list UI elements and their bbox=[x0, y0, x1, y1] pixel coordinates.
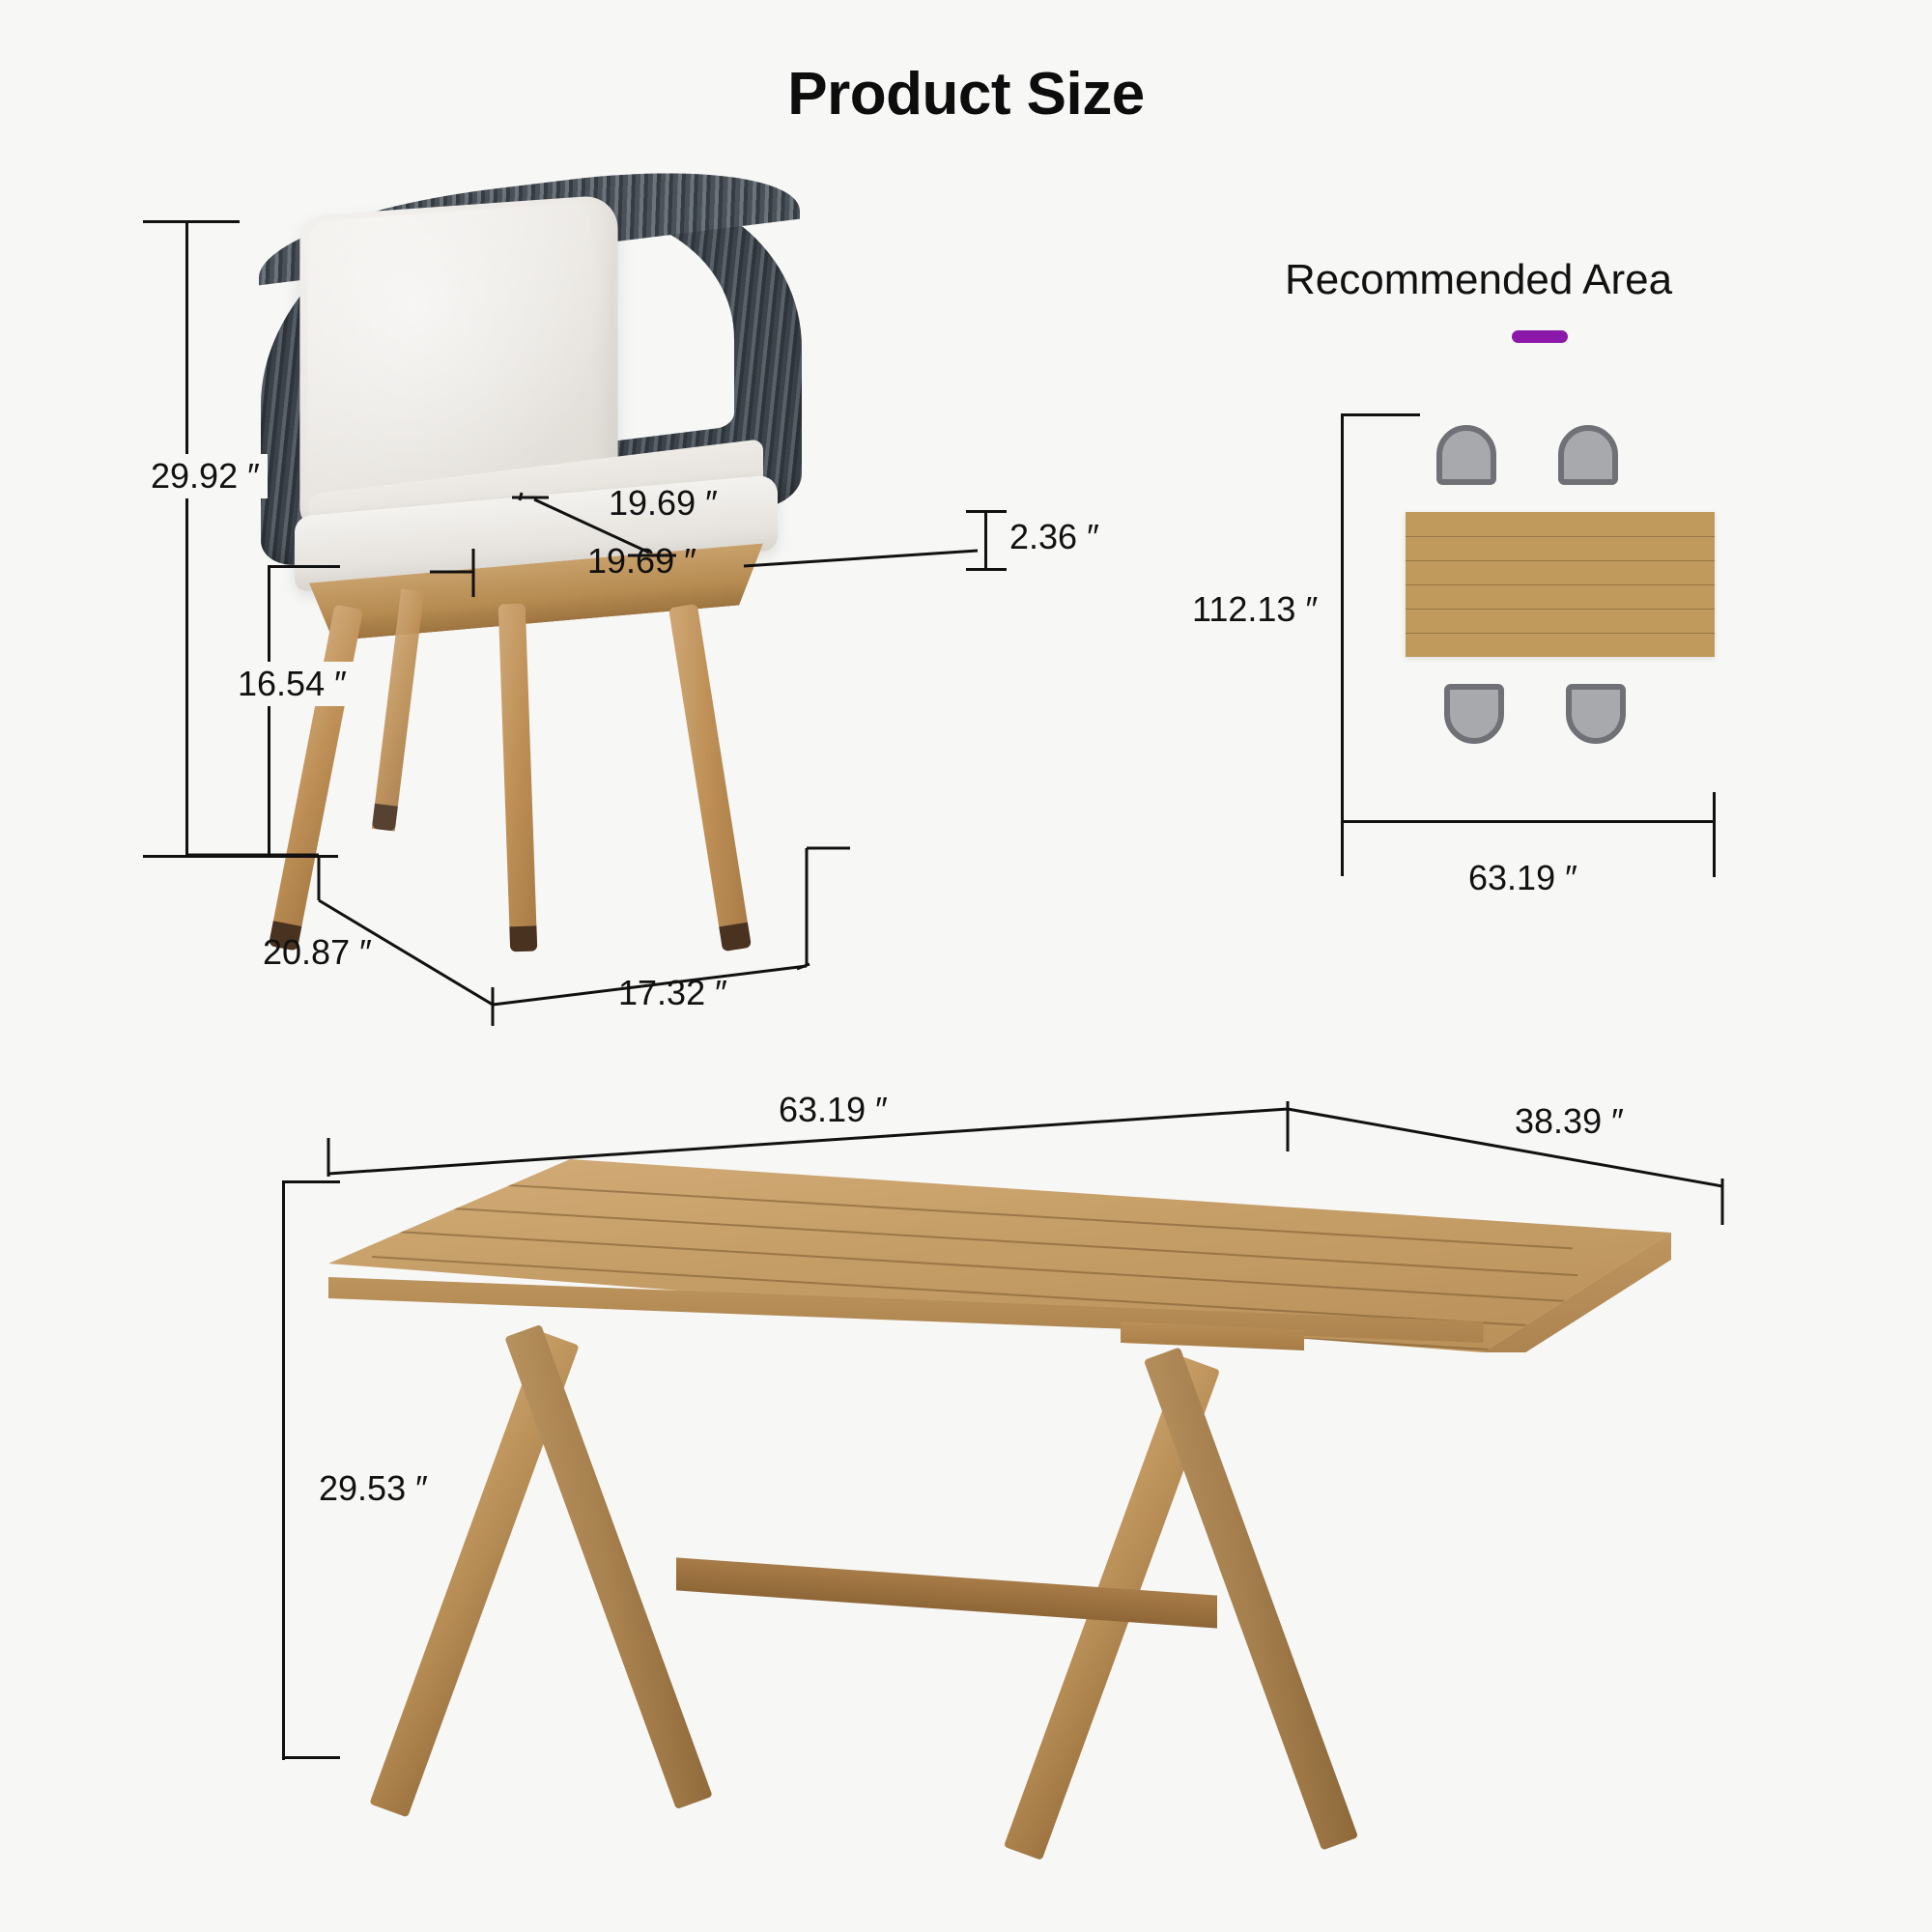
recommended-width-label: 63.19 ″ bbox=[1468, 858, 1577, 898]
product-size-infographic: Product Size 29.92 ″ 16.54 ″ 19.69 ″ 19 bbox=[0, 0, 1932, 1932]
chair-width-label: 17.32 ″ bbox=[618, 973, 727, 1013]
top-view-chair-back-left bbox=[1436, 425, 1496, 485]
table-height-tick-top bbox=[282, 1180, 340, 1183]
recommended-area-accent-bar bbox=[1512, 330, 1568, 343]
chair-seat-depth-label: 19.69 ″ bbox=[609, 483, 718, 524]
chair-overall-height-label: 29.92 ″ bbox=[143, 454, 268, 498]
chair-depth-label: 20.87 ″ bbox=[263, 932, 372, 973]
dining-table-illustration bbox=[270, 1140, 1729, 1874]
table-width-label: 38.39 ″ bbox=[1515, 1101, 1624, 1142]
chair-height-dimension-line bbox=[185, 220, 188, 858]
recommended-depth-label: 112.13 ″ bbox=[1186, 587, 1323, 632]
chair-seat-height-label: 16.54 ″ bbox=[230, 662, 355, 706]
top-view-tabletop bbox=[1406, 512, 1715, 657]
table-length-label: 63.19 ″ bbox=[773, 1090, 894, 1130]
chair-leg-front-right bbox=[668, 604, 752, 952]
chair-leg-front-center bbox=[498, 604, 538, 952]
top-view-chair-back-right bbox=[1558, 425, 1618, 485]
chair-seat-height-dimension-line bbox=[268, 565, 270, 858]
chair-seat-height-tick-top bbox=[268, 565, 340, 568]
top-view-plank-line bbox=[1406, 560, 1715, 561]
recommended-width-tick-left bbox=[1341, 820, 1344, 876]
table-plank-line bbox=[444, 1180, 1573, 1249]
table-height-dimension-line bbox=[282, 1180, 285, 1760]
recommended-area-heading: Recommended Area bbox=[1285, 256, 1672, 304]
recommended-area-top-view bbox=[1406, 406, 1715, 792]
chair-height-tick-bottom bbox=[143, 855, 240, 858]
recommended-width-tick-right bbox=[1713, 792, 1716, 877]
page-title: Product Size bbox=[0, 60, 1932, 128]
chair-leg-front-left bbox=[269, 604, 363, 951]
chair-cushion-thickness-label: 2.36 ″ bbox=[1009, 517, 1099, 557]
table-height-tick-bottom bbox=[282, 1756, 340, 1759]
table-height-label: 29.53 ″ bbox=[319, 1468, 428, 1509]
chair-seat-width-label: 19.69 ″ bbox=[587, 541, 696, 582]
top-view-chair-front-left bbox=[1444, 684, 1504, 744]
top-view-chair-front-right bbox=[1566, 684, 1626, 744]
chair-seat-height-tick-bottom bbox=[227, 855, 338, 858]
recommended-width-dimension-line bbox=[1341, 820, 1716, 823]
chair-illustration bbox=[241, 188, 860, 961]
top-view-plank-line bbox=[1406, 536, 1715, 537]
chair-foot-cap bbox=[509, 925, 537, 952]
recommended-depth-dimension-line bbox=[1341, 413, 1344, 823]
cushion-thickness-dimension-line bbox=[984, 510, 987, 570]
chair-foot-cap bbox=[372, 804, 398, 832]
recommended-depth-tick-top bbox=[1341, 413, 1420, 416]
cushion-thickness-tick-bottom bbox=[966, 568, 1007, 571]
chair-foot-cap bbox=[719, 923, 752, 952]
top-view-plank-line bbox=[1406, 584, 1715, 585]
top-view-plank-line bbox=[1406, 609, 1715, 610]
chair-height-tick-top bbox=[143, 220, 240, 223]
top-view-plank-line bbox=[1406, 633, 1715, 634]
